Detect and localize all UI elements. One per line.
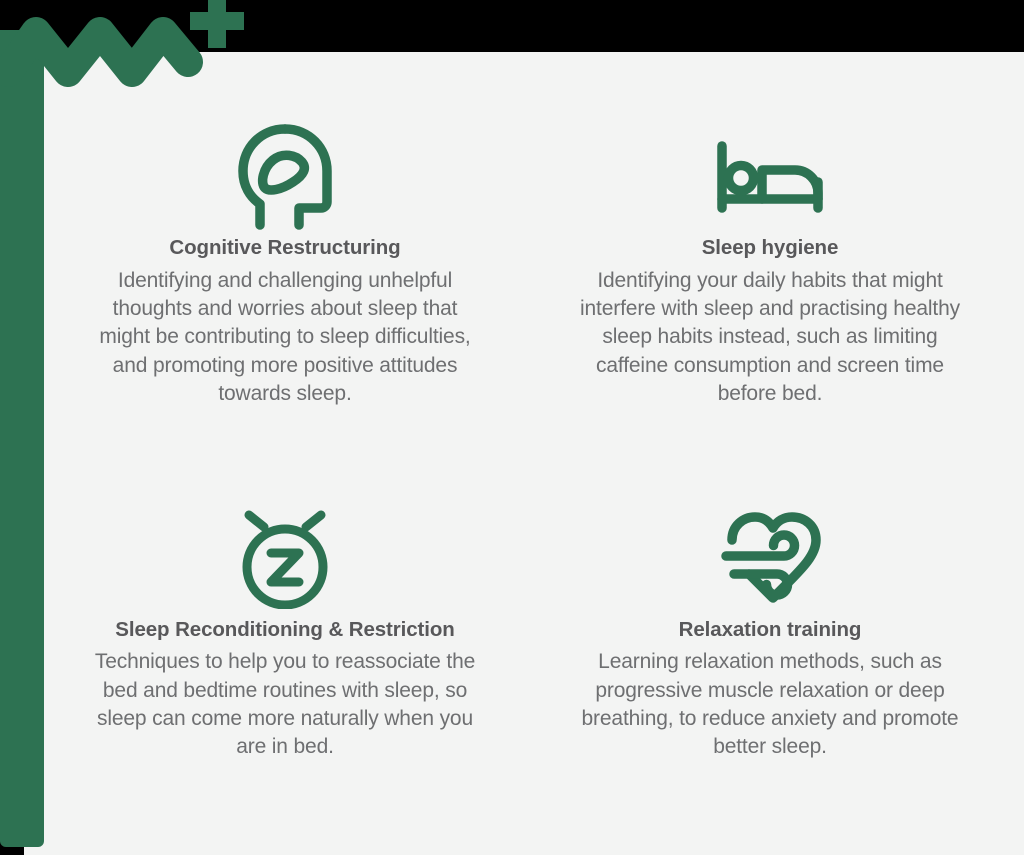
card-title: Cognitive Restructuring [169, 236, 400, 261]
head-brain-icon [235, 118, 335, 236]
card-title: Sleep hygiene [702, 236, 839, 261]
card-body: Learning relaxation methods, such as pro… [565, 648, 975, 762]
person-in-bed-icon [715, 118, 825, 236]
card-sleep-reconditioning: Sleep Reconditioning & Restriction Techn… [24, 454, 524, 855]
card-cognitive-restructuring: Cognitive Restructuring Identifying and … [24, 52, 524, 454]
cards-grid: Cognitive Restructuring Identifying and … [24, 52, 1024, 855]
card-body: Identifying your daily habits that might… [565, 267, 975, 409]
card-sleep-hygiene: Sleep hygiene Identifying your daily hab… [524, 52, 1024, 454]
card-title: Relaxation training [679, 618, 862, 643]
infographic-root: Cognitive Restructuring Identifying and … [0, 0, 1024, 855]
medical-plus-icon [186, 0, 248, 50]
card-relaxation-training: Relaxation training Learning relaxation … [524, 454, 1024, 855]
alarm-clock-snooze-icon [233, 500, 337, 618]
card-body: Techniques to help you to reassociate th… [85, 648, 485, 762]
card-body: Identifying and challenging unhelpful th… [85, 267, 485, 409]
heart-breathing-icon [718, 500, 822, 618]
card-title: Sleep Reconditioning & Restriction [115, 618, 454, 643]
